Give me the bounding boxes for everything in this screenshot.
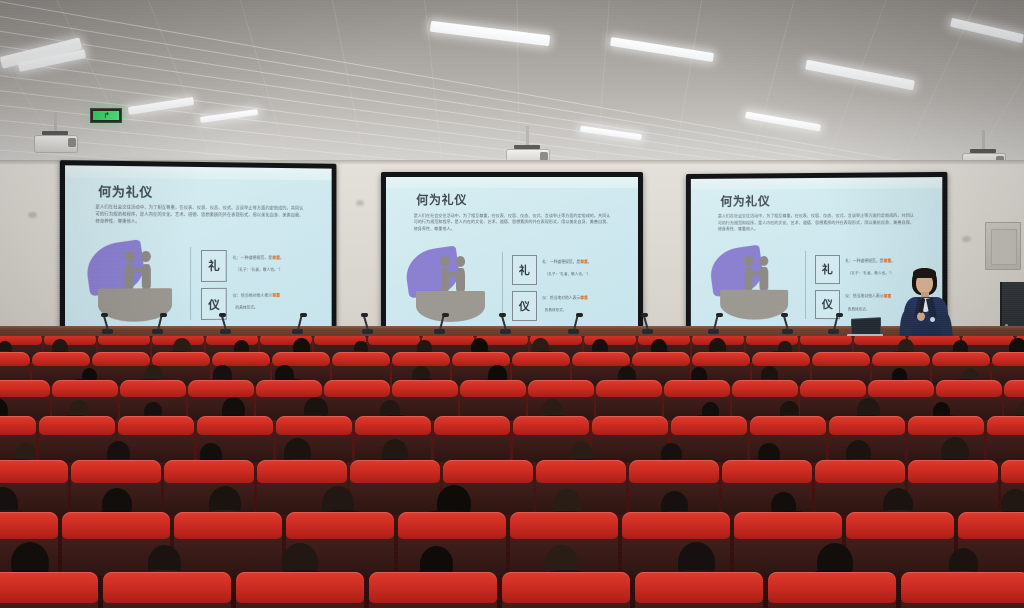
microphone-head [160, 313, 167, 317]
note-highlight: 尊重 [580, 296, 588, 300]
seat-headrest [572, 352, 630, 366]
seat-headrest [502, 572, 630, 603]
slide-top-band [65, 165, 332, 180]
seat-headrest [734, 512, 842, 539]
slide-title: 何为礼仪 [416, 191, 467, 208]
seat-headrest [443, 460, 533, 483]
microphone-head [641, 313, 648, 317]
microphone-head [442, 313, 449, 317]
emblem-figure-head-1 [744, 256, 753, 266]
slide-char-note2-礼: （孔子："礼者，敬人也。"） [545, 272, 591, 277]
seat-headrest [392, 352, 450, 366]
auditorium-seat[interactable] [671, 416, 747, 462]
gooseneck-microphone[interactable] [780, 312, 796, 334]
emblem-figure-head-2 [456, 256, 465, 266]
microphone-head [300, 313, 307, 317]
microphone-head [716, 313, 723, 317]
auditorium-seat[interactable] [502, 572, 630, 608]
projector-mount-rod [526, 126, 529, 146]
slide-char-box-仪: 仪 [512, 291, 537, 321]
seat-headrest [62, 512, 170, 539]
electrical-panel [985, 222, 1021, 270]
seat-headrest [528, 380, 594, 397]
seat-headrest [1004, 380, 1024, 397]
seat-headrest [936, 380, 1002, 397]
slide-char-note2-仪: 的具体形式。 [848, 307, 870, 313]
slide-char-note2-仪: 的具体形式。 [545, 308, 567, 313]
seat-headrest [174, 512, 282, 539]
slide-title: 何为礼仪 [720, 192, 770, 209]
microphone-stem [157, 315, 163, 330]
speaker-badge [930, 317, 935, 322]
seat-headrest [812, 352, 870, 366]
seat-headrest [332, 352, 390, 366]
wall-fixture-left [28, 212, 37, 218]
note-prefix: 礼：一种道德规范，是 [845, 259, 883, 263]
slide-char-box-礼: 礼 [201, 250, 227, 282]
seat-headrest [629, 460, 719, 483]
auditorium-seat[interactable] [846, 512, 954, 576]
gooseneck-microphone[interactable] [566, 312, 582, 334]
seat-headrest [0, 460, 68, 483]
auditorium-seat[interactable] [987, 416, 1024, 462]
microphone-head [781, 313, 788, 317]
seat-headrest [992, 352, 1024, 366]
seat-headrest [868, 380, 934, 397]
auditorium-seat[interactable] [174, 512, 282, 576]
auditorium-seat[interactable] [908, 460, 998, 514]
note-prefix: 礼：一种道德规范，是 [542, 260, 580, 264]
handshake-emblem [406, 249, 492, 324]
handshake-emblem [711, 248, 795, 321]
seat-headrest [206, 336, 258, 345]
projector-lens [68, 138, 76, 147]
seat-headrest [632, 352, 690, 366]
note-highlight: 尊重 [884, 295, 892, 299]
speaker-hand [917, 312, 925, 321]
slide-top-band [691, 177, 942, 189]
screen-surface: 何为礼仪是人们在社会交往活动中，为了相互尊重，在仪表、仪容、仪态、仪式、言谈举止… [386, 177, 638, 333]
seat-headrest [800, 380, 866, 397]
seat-headrest [750, 416, 826, 435]
auditorium-seat[interactable] [901, 572, 1024, 608]
microphone-stem [439, 315, 445, 330]
auditorium-seat[interactable] [596, 380, 662, 420]
seat-headrest [592, 416, 668, 435]
emblem-figure-head-2 [759, 256, 768, 266]
slide-char-note2-礼: （孔子："礼者，敬人也。"） [848, 271, 894, 277]
auditorium-seat[interactable] [103, 572, 231, 608]
slide-char-note-仪: 仪：恰当地对他人表示尊重 [542, 296, 588, 302]
seat-headrest [39, 416, 115, 435]
slide-char-note-仪: 仪：恰当地对他人表示尊重 [233, 293, 280, 299]
note-suffix: 。 [891, 259, 895, 263]
emblem-grey-bowl [416, 291, 485, 322]
note-prefix: 仪：恰当地对他人表示 [233, 293, 272, 298]
gooseneck-microphone[interactable] [100, 312, 116, 334]
emblem-handshake-arms [130, 268, 147, 272]
note-prefix: 礼：一种道德规范，是 [233, 255, 272, 260]
slide-divider [502, 252, 503, 321]
seat-headrest [272, 352, 330, 366]
slide-char-note-礼: 礼：一种道德规范，是尊重。 [233, 255, 284, 261]
auditorium-seat[interactable] [39, 416, 115, 462]
seat-headrest [0, 416, 36, 435]
seat-headrest [800, 336, 852, 345]
slide-divider [805, 251, 806, 318]
gooseneck-microphone[interactable] [432, 312, 448, 334]
exit-sign-left: ↱ [90, 108, 122, 123]
seat-headrest [752, 352, 810, 366]
gooseneck-microphone[interactable] [218, 312, 234, 334]
audience-area [0, 336, 1024, 608]
seat-headrest [692, 352, 750, 366]
gooseneck-microphone[interactable] [826, 312, 842, 334]
seat-headrest [962, 336, 1014, 345]
projector-mount-rod [982, 130, 985, 150]
seat-headrest [32, 352, 90, 366]
note-suffix: 。 [280, 255, 284, 260]
slide-divider [190, 247, 191, 320]
microphone-stem [297, 315, 303, 330]
seat-headrest [120, 380, 186, 397]
exit-sign-glyph: ↱ [93, 111, 118, 120]
lecture-hall-photo: ↱↱ 何为礼仪是人们在社会交往活动中，为了相互尊重，在仪表、仪容、仪态、仪式、言… [0, 0, 1024, 608]
note-suffix: 。 [588, 260, 592, 264]
speaker-hair-front [913, 268, 936, 278]
emblem-handshake-arms [446, 272, 461, 276]
note-prefix: 仪：恰当地对他人表示 [845, 294, 883, 298]
auditorium-seat[interactable] [768, 572, 896, 608]
seat-headrest [732, 380, 798, 397]
seat-headrest [908, 336, 960, 345]
gooseneck-microphone[interactable] [498, 312, 514, 334]
seat-headrest [512, 352, 570, 366]
gooseneck-microphone[interactable] [290, 312, 306, 334]
seat-headrest [103, 572, 231, 603]
ceiling-projector-left [34, 128, 78, 162]
slide-content: 何为礼仪是人们在社会交往活动中，为了相互尊重，在仪表、仪容、仪态、仪式、言谈举止… [65, 165, 332, 334]
slide-char-note-礼: 礼：一种道德规范，是尊重。 [845, 259, 895, 265]
emblem-figure-head-2 [141, 251, 151, 262]
seat-headrest [622, 512, 730, 539]
seat-headrest [236, 572, 364, 603]
seat-headrest [932, 352, 990, 366]
seat-headrest [1001, 460, 1024, 483]
seat-headrest [768, 572, 896, 603]
slide-content: 何为礼仪是人们在社会交往活动中，为了相互尊重，在仪表、仪容、仪态、仪式、言谈举止… [386, 177, 638, 333]
seat-headrest [164, 460, 254, 483]
seat-headrest [596, 380, 662, 397]
seat-headrest [958, 512, 1024, 539]
seat-headrest [188, 380, 254, 397]
electrical-panel-face [991, 229, 1017, 265]
emblem-handshake-arms [749, 271, 764, 275]
seat-headrest [829, 416, 905, 435]
seat-headrest [510, 512, 618, 539]
seat-headrest [0, 512, 58, 539]
note-highlight: 尊重 [580, 260, 588, 264]
seat-headrest [722, 460, 812, 483]
microphone-stem [833, 315, 839, 330]
seat-headrest [434, 416, 510, 435]
slide-char-note2-仪: 的具体形式。 [235, 306, 257, 312]
microphone-head [219, 313, 226, 317]
auditorium-seat[interactable] [369, 572, 497, 608]
seat-headrest [324, 380, 390, 397]
seat-headrest [872, 352, 930, 366]
auditorium-seat[interactable] [236, 572, 364, 608]
auditorium-seat[interactable] [434, 416, 510, 462]
slide-char-note2-礼: （孔子："礼者，敬人也。"） [235, 268, 282, 274]
wall-fixture-mid [356, 200, 364, 206]
slide-char-box-礼: 礼 [512, 255, 537, 285]
seat-headrest [460, 380, 526, 397]
note-prefix: 仪：恰当地对他人表示 [542, 296, 580, 300]
slide-char-note-礼: 礼：一种道德规范，是尊重。 [542, 260, 591, 266]
ceiling-grid-line-cross [797, 0, 901, 172]
microphone-stem [713, 315, 719, 330]
microphone-head [361, 313, 368, 317]
slide-char-note-仪: 仪：恰当地对他人表示尊重 [845, 294, 891, 300]
seat-headrest [635, 572, 763, 603]
seat-headrest [987, 416, 1024, 435]
auditorium-seat[interactable] [800, 380, 866, 420]
microphone-head [101, 313, 108, 317]
auditorium-seat[interactable] [0, 572, 98, 608]
seat-headrest [369, 572, 497, 603]
seat-headrest [355, 416, 431, 435]
seat-headrest [152, 352, 210, 366]
wall-fixture-right [962, 236, 971, 242]
screen-surface: 何为礼仪是人们在社会交往活动中，为了相互尊重，在仪表、仪容、仪态、仪式、言谈举止… [65, 165, 332, 334]
seat-headrest [398, 512, 506, 539]
seat-headrest [908, 416, 984, 435]
emblem-grey-bowl [721, 289, 789, 320]
slide-body-text: 是人们在社会交往活动中，为了相互尊重，在仪表、仪容、仪态、仪式、言谈举止等方面约… [95, 204, 303, 225]
seat-headrest [52, 380, 118, 397]
microphone-head [836, 313, 843, 317]
auditorium-seat[interactable] [460, 380, 526, 420]
seat-headrest [276, 416, 352, 435]
slide-body-text: 是人们在社会交往活动中，为了相互尊重，在仪表、仪容、仪态、仪式、言谈举止等方面约… [718, 213, 914, 233]
auditorium-seat[interactable] [592, 416, 668, 462]
slide-body-text: 是人们在社会交往活动中，为了相互尊重，在仪表、仪容、仪态、仪式、言谈举止等方面约… [414, 213, 611, 232]
seat-headrest [392, 380, 458, 397]
microphone-head [576, 313, 583, 317]
auditorium-seat[interactable] [350, 460, 440, 514]
slide-char-box-礼: 礼 [815, 255, 840, 285]
seat-headrest [71, 460, 161, 483]
slide-top-band [386, 177, 638, 188]
seat-headrest [212, 352, 270, 366]
seat-headrest [664, 380, 730, 397]
seat-headrest [286, 512, 394, 539]
seat-headrest [256, 380, 322, 397]
gooseneck-microphone[interactable] [706, 312, 722, 334]
auditorium-seat[interactable] [392, 380, 458, 420]
seat-headrest [118, 416, 194, 435]
seat-headrest [513, 416, 589, 435]
seat-headrest [815, 460, 905, 483]
ceiling-grid-line-cross [589, 0, 613, 172]
slide-title: 何为礼仪 [98, 181, 153, 201]
gooseneck-microphone[interactable] [150, 312, 166, 334]
seat-headrest [0, 380, 50, 397]
microphone-stem [573, 315, 579, 330]
seat-headrest [92, 352, 150, 366]
seat-headrest [0, 352, 30, 366]
projector-mount-rod [54, 112, 57, 132]
seat-headrest [452, 352, 510, 366]
seat-headrest [197, 416, 273, 435]
note-highlight: 尊重 [272, 293, 280, 298]
seat-headrest [350, 460, 440, 483]
seat-headrest [671, 416, 747, 435]
seat-headrest [536, 460, 626, 483]
note-highlight: 尊重 [884, 259, 892, 263]
auditorium-seat[interactable] [664, 380, 730, 420]
seat-headrest [98, 336, 150, 345]
microphone-head [499, 313, 506, 317]
seat-headrest [846, 512, 954, 539]
gooseneck-microphone[interactable] [640, 312, 656, 334]
auditorium-seat[interactable] [635, 572, 763, 608]
seat-headrest [257, 460, 347, 483]
seat-headrest [908, 460, 998, 483]
gooseneck-microphone[interactable] [360, 312, 376, 334]
seat-headrest [901, 572, 1024, 603]
seat-headrest [368, 336, 420, 345]
emblem-figure-head-1 [440, 256, 449, 266]
auditorium-seat[interactable] [722, 460, 812, 514]
seat-headrest [0, 572, 98, 603]
